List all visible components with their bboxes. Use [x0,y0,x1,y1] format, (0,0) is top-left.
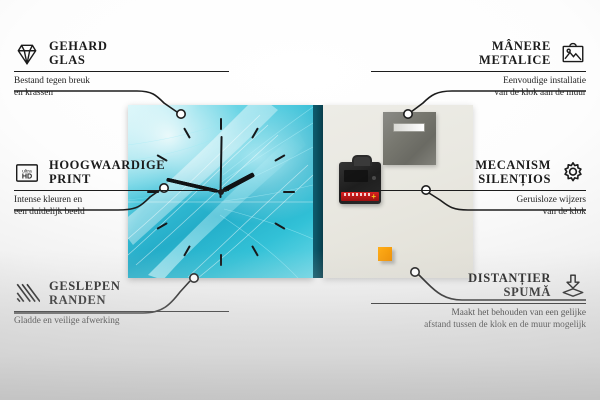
callout-header: MECANISM SILENȚIOS [371,159,586,186]
callout-title: GEHARD GLAS [49,40,107,67]
callout-title-line1: DISTANȚIER [468,271,551,285]
callout-rule [371,71,586,72]
svg-text:HD: HD [22,172,32,180]
callout-title-line2: RANDEN [49,293,106,307]
callout-title-line1: MECANISM [475,158,551,172]
callout-header: GEHARD GLAS [14,40,229,67]
callout-manere-metalice: MÂNERE METALICE Eenvoudige installatie v… [371,40,586,100]
callout-header: DISTANȚIER SPUMĂ [371,272,586,299]
callout-header: MÂNERE METALICE [371,40,586,67]
callout-title: MECANISM SILENȚIOS [475,159,551,186]
clock-glass-edge [313,105,323,278]
callout-rule [371,190,586,191]
callout-title-line2: METALICE [479,53,551,67]
callout-rule [14,71,229,72]
callout-desc-line1: Eenvoudige installatie [503,76,586,86]
picture-frame-hanger-icon [560,41,586,67]
callout-mecanism-silentios: MECANISM SILENȚIOS Geruisloze wijzers va… [371,159,586,219]
diamond-icon [14,41,40,67]
callout-desc-line1: Geruisloze wijzers [517,195,586,205]
callout-gehard-glas: GEHARD GLAS Bestand tegen breuk en krass… [14,40,229,100]
callout-description: Maakt het behouden van een gelijke afsta… [371,308,586,332]
callout-rule [14,190,229,191]
callout-header: GESLEPEN RANDEN [14,280,229,307]
callout-title: DISTANȚIER SPUMĂ [468,272,551,299]
callout-rule [14,311,229,312]
mechanism-body [344,170,368,182]
callout-description: Bestand tegen breuk en krassen [14,76,229,100]
callout-header: ultra HD HOOGWAARDIGE PRINT [14,159,229,186]
callout-desc-line1: Bestand tegen breuk [14,76,90,86]
callout-desc-line2: van de klok [543,207,586,217]
callout-hoogwaardige-print: ultra HD HOOGWAARDIGE PRINT Intense kleu… [14,159,229,219]
callout-desc-line1: Maakt het behouden van een gelijke [452,308,587,318]
callout-title-line2: SPUMĂ [504,285,551,299]
callout-title: GESLEPEN RANDEN [49,280,121,307]
callout-desc-line1: Intense kleuren en [14,195,82,205]
foam-spacer [378,247,392,261]
metal-hanger-plate [383,112,436,165]
callout-description: Geruisloze wijzers van de klok [371,195,586,219]
callout-desc-line1: Gladde en veilige afwerking [14,316,120,326]
callout-desc-line2: een duidelijk beeld [14,207,85,217]
callout-title-line2: SILENȚIOS [478,172,551,186]
beveled-edges-icon [14,281,40,307]
spacer-arrow-icon [560,273,586,299]
callout-title: HOOGWAARDIGE PRINT [49,159,165,186]
callout-desc-line2: afstand tussen de klok en de muur mogeli… [424,320,586,330]
hanger-slot [393,123,425,132]
callout-geslepen-randen: GESLEPEN RANDEN Gladde en veilige afwerk… [14,280,229,328]
callout-title-line2: GLAS [49,53,85,67]
callout-description: Gladde en veilige afwerking [14,316,229,328]
callout-distantier-spuma: DISTANȚIER SPUMĂ Maakt het behouden van … [371,272,586,332]
callout-rule [371,303,586,304]
callout-title-line1: GESLEPEN [49,279,121,293]
callout-description: Intense kleuren en een duidelijk beeld [14,195,229,219]
callout-desc-line2: van de klok aan de muur [494,88,586,98]
callout-title-line1: HOOGWAARDIGE [49,158,165,172]
infographic-canvas: + [0,0,600,400]
callout-description: Eenvoudige installatie van de klok aan d… [371,76,586,100]
mechanism-loop [352,155,372,166]
callout-title-line1: MÂNERE [492,39,551,53]
gear-icon [560,160,586,186]
battery-label-text [344,193,370,196]
callout-title-line1: GEHARD [49,39,107,53]
callout-title: MÂNERE METALICE [479,40,551,67]
callout-desc-line2: en krassen [14,88,53,98]
ultra-hd-icon: ultra HD [14,160,40,186]
callout-title-line2: PRINT [49,172,91,186]
